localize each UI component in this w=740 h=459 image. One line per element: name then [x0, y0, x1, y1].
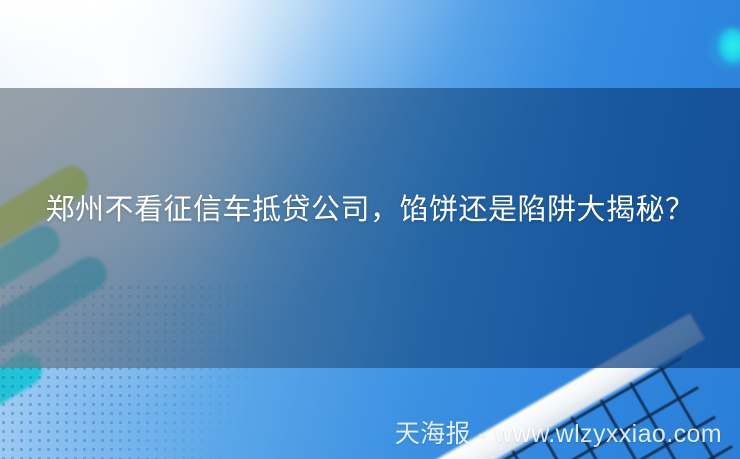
poster-title: 郑州不看征信车抵贷公司，馅饼还是陷阱大揭秘？: [0, 186, 740, 234]
watermark-text: 天海报 - www.wlzyxxiao.com: [395, 417, 722, 451]
poster-image: 郑州不看征信车抵贷公司，馅饼还是陷阱大揭秘？ 天海报 - www.wlzyxxi…: [0, 0, 740, 459]
